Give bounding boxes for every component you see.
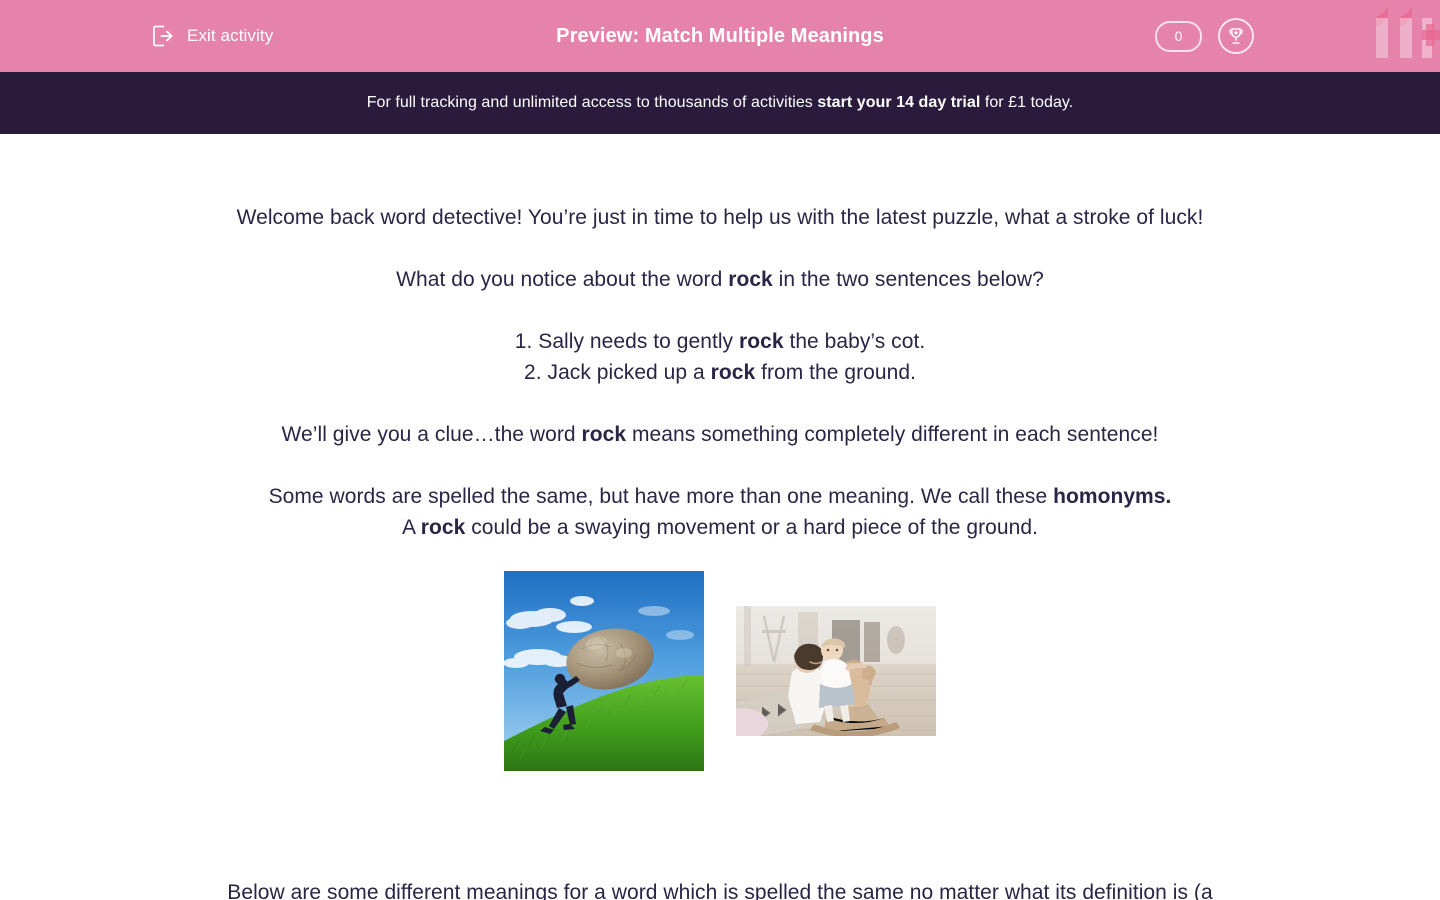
clue-text: We’ll give you a clue…the word rock mean… — [0, 419, 1440, 450]
score-value: 0 — [1175, 28, 1183, 44]
homonym-example-keyword: rock — [421, 516, 466, 539]
brand-logo-icon — [1370, 4, 1440, 58]
illustration-row — [0, 571, 1440, 791]
bottom-line-1: Below are some different meanings for a … — [0, 877, 1440, 900]
question-before: What do you notice about the word — [396, 268, 728, 291]
activity-content: Welcome back word detective! You’re just… — [0, 134, 1440, 900]
sentence-1-number: 1. — [515, 330, 539, 353]
sentence-1-before: Sally needs to gently — [538, 330, 739, 353]
sentence-1-after: the baby’s cot. — [784, 330, 926, 353]
list-item: 1. Sally needs to gently rock the baby’s… — [0, 326, 1440, 357]
question-line: What do you notice about the word rock i… — [0, 264, 1440, 295]
bottom-instruction: Below are some different meanings for a … — [0, 877, 1440, 900]
trophy-icon — [1226, 26, 1246, 46]
welcome-line: Welcome back word detective! You’re just… — [0, 202, 1440, 233]
homonym-intro-bold: homonyms. — [1053, 485, 1171, 508]
homonym-explanation: Some words are spelled the same, but hav… — [0, 481, 1440, 543]
homonym-example-text: A rock could be a swaying movement or a … — [0, 512, 1440, 543]
question-after: in the two sentences below? — [773, 268, 1044, 291]
clue-before: We’ll give you a clue…the word — [282, 423, 582, 446]
list-item: 2. Jack picked up a rock from the ground… — [0, 357, 1440, 388]
sentence-1-keyword: rock — [739, 330, 784, 353]
sentence-2-keyword: rock — [711, 361, 756, 384]
promo-trial-link[interactable]: start your 14 day trial — [817, 94, 980, 111]
header-actions: 0 — [1155, 18, 1254, 54]
promo-lead-text: For full tracking and unlimited access t… — [367, 94, 818, 111]
sentence-2-number: 2. — [524, 361, 548, 384]
rock-boulder-image — [504, 571, 704, 771]
promo-banner[interactable]: For full tracking and unlimited access t… — [0, 72, 1440, 134]
question-text: What do you notice about the word rock i… — [0, 264, 1440, 295]
homonym-intro-text: Some words are spelled the same, but hav… — [0, 481, 1440, 512]
score-badge[interactable]: 0 — [1155, 21, 1202, 52]
rocking-horse-image — [736, 606, 936, 736]
clue-line: We’ll give you a clue…the word rock mean… — [0, 419, 1440, 450]
homonym-example-after: could be a swaying movement or a hard pi… — [465, 516, 1038, 539]
homonym-example-before: A — [402, 516, 421, 539]
question-keyword: rock — [728, 268, 773, 291]
homonym-intro-before: Some words are spelled the same, but hav… — [269, 485, 1054, 508]
promo-trail-text: for £1 today. — [980, 94, 1073, 111]
trophy-button[interactable] — [1218, 18, 1254, 54]
clue-keyword: rock — [582, 423, 627, 446]
promo-banner-text: For full tracking and unlimited access t… — [367, 94, 1074, 112]
clue-after: means something completely different in … — [626, 423, 1158, 446]
app-header: Exit activity Preview: Match Multiple Me… — [0, 0, 1440, 72]
welcome-text: Welcome back word detective! You’re just… — [0, 202, 1440, 233]
example-sentence-list: 1. Sally needs to gently rock the baby’s… — [0, 326, 1440, 388]
sentence-2-after: from the ground. — [755, 361, 916, 384]
sentence-2-before: Jack picked up a — [548, 361, 711, 384]
